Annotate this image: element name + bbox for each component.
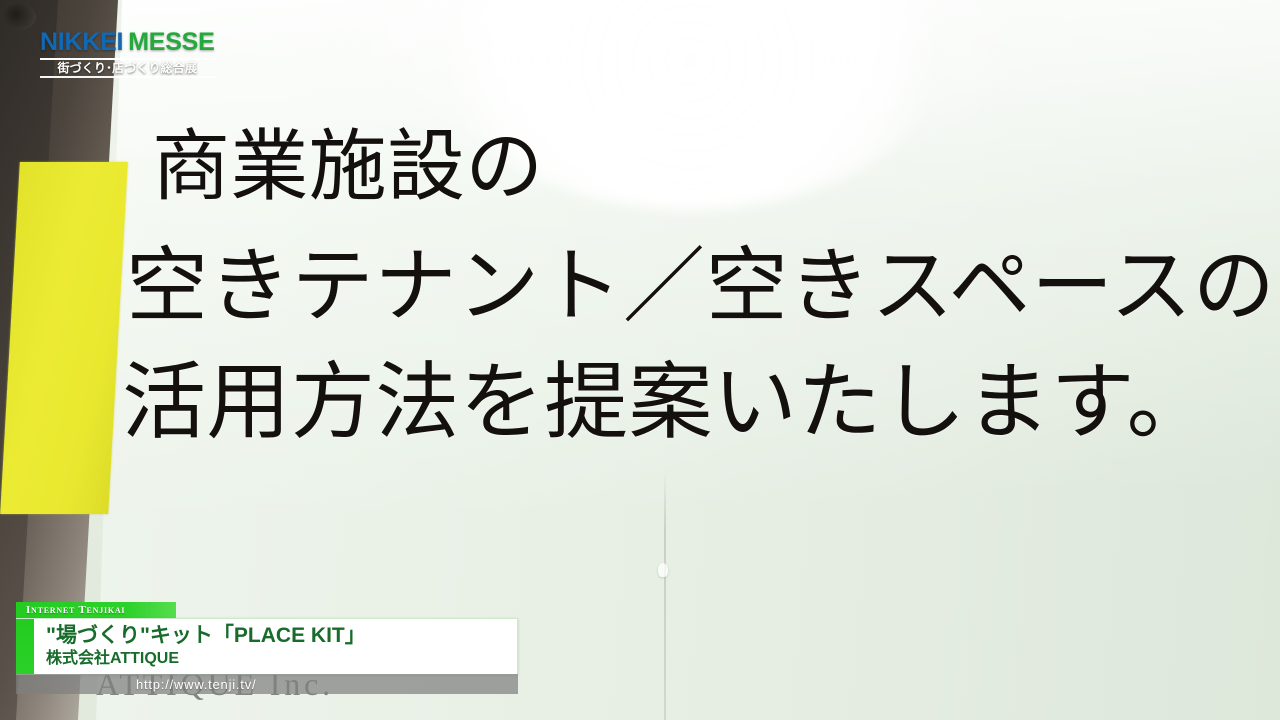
broadcaster-logo-underline — [40, 76, 215, 78]
wall-panel-seam-detail — [658, 563, 668, 577]
url-overlay-bar: http://www.tenji.tv/ — [16, 674, 518, 694]
lower-third-caption: Internet Tenjikai "場づくり"キット「PLACE KIT」 株… — [16, 602, 518, 675]
lower-third-tab: Internet Tenjikai — [16, 602, 176, 618]
lower-third-accent-bar — [16, 619, 34, 674]
broadcaster-logo-secondary: MESSE — [128, 28, 214, 56]
broadcaster-logo: NIKKEIMESSE 街づくり･店づくり総合展 — [34, 28, 221, 81]
wall-signage-copy: 商業施設の 空きテナント／空きスペースの 活用方法を提案いたします。 — [118, 128, 1268, 446]
lower-third-body: "場づくり"キット「PLACE KIT」 株式会社ATTIQUE — [16, 618, 518, 675]
broadcaster-logo-primary: NIKKEI — [40, 28, 123, 56]
url-text: http://www.tenji.tv/ — [136, 677, 256, 692]
ceiling-fixture — [2, 4, 36, 30]
lower-third-text-block: "場づくり"キット「PLACE KIT」 株式会社ATTIQUE — [34, 619, 517, 674]
wall-signage-line-1: 商業施設の — [118, 128, 1268, 206]
lower-third-title: "場づくり"キット「PLACE KIT」 — [46, 624, 507, 648]
wall-signage-line-3: 活用方法を提案いたします。 — [118, 362, 1268, 446]
yellow-accent-band — [0, 162, 128, 514]
wall-signage-line-2: 空きテナント／空きスペースの — [118, 246, 1268, 328]
video-frame: 商業施設の 空きテナント／空きスペースの 活用方法を提案いたします。 ATTIQ… — [0, 0, 1280, 720]
broadcaster-logo-subtitle: 街づくり･店づくり総合展 — [40, 58, 215, 74]
lower-third-tab-label: Internet Tenjikai — [26, 604, 125, 616]
wall-panel-seam — [664, 470, 666, 720]
lower-third-company: 株式会社ATTIQUE — [46, 649, 507, 668]
broadcaster-logo-wordmark: NIKKEIMESSE — [40, 30, 215, 55]
